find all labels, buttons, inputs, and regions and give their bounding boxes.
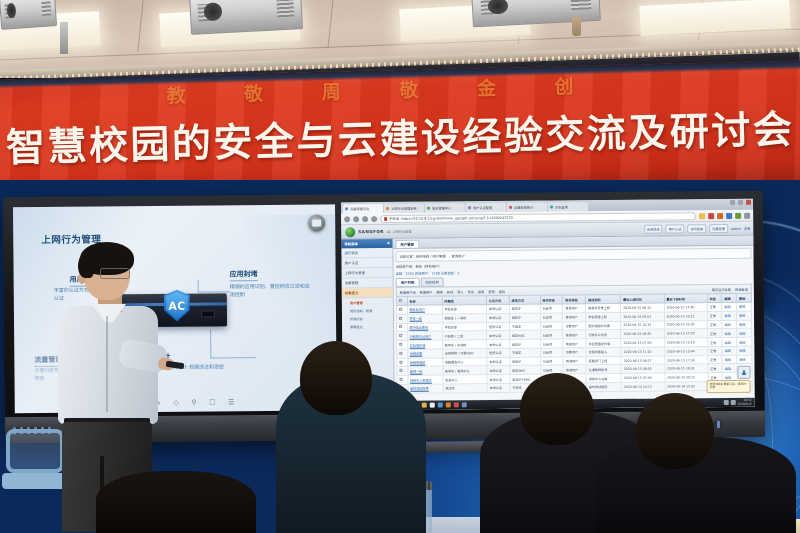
toolbar-delete[interactable]: 删除 (436, 289, 442, 294)
window-controls[interactable] (730, 200, 751, 205)
cell-value: 正常 (707, 338, 722, 347)
cell-value: 图书馆临时访客 (586, 321, 621, 330)
leader-line (210, 330, 211, 359)
toolbar-add-group[interactable]: 新增用户组 (400, 289, 416, 294)
query-link[interactable]: 查询用户 (452, 253, 465, 258)
projector-mount (572, 16, 581, 36)
leader-line (198, 280, 199, 293)
cell-value: 已启用 (540, 339, 563, 348)
cell-value: 绑定IP (509, 304, 540, 313)
col-delete[interactable]: 删除 (736, 293, 751, 302)
cell-value: 本地认证 (486, 313, 509, 322)
favicon-icon (468, 206, 471, 209)
browser-tab[interactable]: 日志查询 (548, 202, 588, 211)
extension-icon[interactable] (717, 213, 723, 219)
toolbar-import[interactable]: 导入 (457, 289, 463, 294)
sidebar-subitem-label: 组织结构、权限 (350, 309, 372, 313)
cell-value: 普通用户 (563, 330, 586, 339)
cell-value: 教学区 / 教师办公 (442, 366, 486, 375)
toolbar-move[interactable]: 移动 (447, 289, 453, 294)
cell-value: 绑定IP (509, 313, 540, 322)
cell-value: 短信认证 (487, 348, 510, 357)
chat-icon[interactable] (454, 402, 459, 407)
cell-value: 本地认证 (487, 383, 510, 392)
cell-value: 短信认证 (487, 322, 510, 331)
cell-value: 学校总部 (442, 322, 486, 331)
col-type[interactable]: 账号类型 (563, 295, 586, 304)
cell-value: 2020-06-15 08:27 (621, 356, 664, 365)
close-icon[interactable] (746, 200, 751, 205)
ac-badge-text: AC (168, 299, 185, 312)
favicon-icon (550, 206, 553, 209)
cell-value: 信息中心 (443, 375, 487, 384)
menu-icon[interactable] (744, 212, 750, 218)
cell-value: 2020-06-15 07:40 (621, 373, 664, 382)
cell-value: 测试组 (443, 384, 487, 393)
cell-value: 2020-06-15 15:44 (664, 347, 707, 356)
cell-value: 2020-06-15 20:15 (665, 373, 708, 382)
cell-value: 不绑定 (509, 322, 540, 331)
cell-value: 行政楼 / 二层 (442, 331, 486, 340)
user-icon[interactable]: ♟ (737, 366, 750, 379)
ceiling-projector-1 (0, 0, 57, 30)
cell-action[interactable]: 编辑 (722, 364, 737, 373)
browser-tab-label: 上网行为管理系统 (391, 206, 417, 211)
cell-value: 正常 (708, 355, 723, 364)
checkbox-icon[interactable] (399, 369, 402, 372)
cell-value: 实验室固定终端 (586, 339, 621, 348)
quick-search-label[interactable]: 快速查询 (735, 286, 748, 291)
sidebar-item-traffic[interactable]: 流量管理 (342, 278, 393, 288)
cell-value: 2020-06-14 15:02 (665, 382, 708, 391)
browser-tab[interactable]: 安全管理中心 (425, 203, 465, 212)
browser-tab-label: 流量监控统计 (514, 205, 533, 210)
collapse-icon[interactable]: ◀ (387, 241, 390, 246)
row-checkbox[interactable] (397, 349, 408, 358)
sidebar-header: 导航菜单 ◀ (341, 239, 392, 248)
back-icon[interactable] (344, 216, 350, 222)
favicon-icon (427, 207, 430, 210)
sidebar-item-label: 对象定义 (345, 291, 359, 295)
presenter-shirt-placket (106, 316, 108, 412)
sidebar-subitem-policy[interactable]: 策略定义 (342, 322, 393, 330)
sidebar-subitem-label: 用户管理 (350, 301, 363, 305)
browser-tab[interactable]: 设备管理平台 (343, 204, 383, 213)
row-checkbox[interactable] (397, 358, 408, 367)
cell-action[interactable]: 删除 (737, 311, 752, 320)
col-edit[interactable]: 编辑 (722, 293, 737, 302)
toolbar-enable[interactable]: 启用 (478, 289, 484, 294)
app-icon[interactable] (462, 402, 467, 407)
cell-value: 普通用户 (563, 339, 586, 348)
browser-tab[interactable]: 用户认证配置 (466, 203, 506, 212)
cell-value: 教学区 / 实验楼 (442, 340, 486, 349)
clock-date[interactable]: 2020/6/15 (737, 401, 751, 405)
security-label: 不安全 (389, 216, 399, 221)
home-icon[interactable] (371, 216, 377, 222)
cell-value: 访客用户 (563, 321, 586, 330)
sidebar-subitem-label: 策略定义 (350, 325, 363, 329)
cell-action[interactable]: 编辑 (722, 329, 737, 338)
cell-value: 无线网络 / 访客SSID (442, 349, 486, 358)
cell-value: 本地认证 (487, 331, 510, 340)
browser-tab[interactable]: 流量监控统计 (507, 203, 547, 212)
checkbox-icon[interactable] (400, 378, 403, 381)
cell-value: 正常 (707, 320, 722, 329)
cell-action[interactable]: 删除 (737, 320, 752, 329)
checkbox-icon[interactable] (399, 308, 402, 311)
sidebar-item-label: 运行状态 (344, 251, 358, 255)
cell-value: 已启用 (540, 304, 563, 313)
col-state[interactable]: 状态 (707, 294, 722, 303)
screen-camera-module (308, 215, 325, 232)
cell-value: 已启用 (540, 348, 563, 357)
sidebar-header-label: 导航菜单 (344, 241, 358, 246)
cell-name[interactable]: 图书馆访客组 (407, 323, 442, 332)
extension-icon[interactable] (708, 213, 714, 219)
cell-name[interactable]: 无线访客 (407, 349, 442, 358)
cell-value: 无线访客接入 (586, 347, 621, 356)
header-button-auth[interactable]: 用户认证 (666, 224, 685, 233)
select-all-header[interactable] (396, 296, 407, 305)
sidebar-item-label: 用户认证 (345, 261, 359, 265)
cell-value: 本地认证 (487, 375, 510, 384)
row-checkbox[interactable] (396, 305, 407, 314)
favicon-icon (386, 207, 389, 210)
cell-action[interactable]: 删除 (737, 355, 752, 364)
browser-tab-label: 安全管理中心 (432, 205, 451, 210)
notification-popup[interactable]: 检测到新的更新可用，请及时安装 (707, 380, 751, 394)
leader-line (210, 357, 256, 358)
col-name[interactable]: 名称 (407, 296, 442, 305)
col-status[interactable]: 账号状态 (540, 295, 563, 304)
cell-value: 网络中心运维 (586, 374, 621, 383)
breadcrumb: 当前位置：组织结构 / 用户管理 (399, 253, 445, 258)
cell-value: 不绑定 (510, 348, 541, 357)
url-text: https://10.10.8.1/cgi-bin/home_jsgraph_e… (401, 215, 512, 220)
cell-value: 已启用 (540, 357, 563, 366)
cell-value: 本地认证 (487, 366, 510, 375)
toolbar-export[interactable]: 导出 (468, 289, 474, 294)
sidebar-item-label: 流量管理 (345, 281, 359, 285)
browser-extensions[interactable] (699, 212, 750, 218)
col-last-offline[interactable]: 最近下线时间 (664, 294, 707, 303)
header-button-status[interactable]: 系统状态 (644, 225, 663, 234)
cell-value: 后勤部门上网 (586, 356, 621, 365)
cell-value: 已启用 (540, 322, 563, 331)
content-tab-bar[interactable]: 用户管理 (393, 236, 753, 249)
col-auth[interactable]: 认证方式 (486, 295, 509, 304)
sidebar-item-behavior[interactable]: 上网行为管理 (342, 268, 393, 278)
checkbox-icon[interactable] (399, 299, 402, 302)
cell-value: 本地认证 (487, 340, 510, 349)
device-port (201, 310, 215, 317)
cell-value: 绑定IP (510, 357, 541, 366)
maximize-icon[interactable] (738, 200, 743, 205)
slide-label-app-block: 应用封堵 (230, 269, 258, 279)
header-actions[interactable]: 系统状态 用户认证 访问控制 流量管理 admin 注销 (644, 224, 750, 234)
logout-link[interactable]: 注销 (744, 226, 750, 231)
cell-value: 任课教师账号 (586, 365, 621, 374)
cell-value: 普通用户 (563, 356, 586, 365)
notification-text: 检测到新的更新可用，请及时安装 (710, 382, 746, 390)
slide-desc-app-block: 精细的应用识别、管控网页过滤和应用控制 (230, 283, 312, 300)
media-icon[interactable] (446, 402, 451, 407)
cell-value: 2020-06-15 07:58 (621, 338, 664, 347)
sidebar-item-auth[interactable]: 用户认证 (341, 258, 392, 268)
cell-value: 2020-06-15 08:12 (621, 303, 664, 312)
browser-tab-label: 日志查询 (555, 204, 568, 209)
checkbox-icon[interactable] (399, 317, 402, 320)
sidebar-subitem-label: 终端识别 (350, 317, 363, 321)
user-glyph: ♟ (741, 368, 747, 376)
cell-value: 2020-06-15 17:55 (664, 329, 707, 338)
subtab-user-list[interactable]: 用户列表 (396, 278, 420, 287)
cell-value: 2020-06-15 16:05 (664, 320, 707, 329)
ceiling-projector-2 (189, 0, 303, 35)
cell-name[interactable]: 临时测试账号 (408, 384, 443, 393)
cell-value: 正常 (708, 364, 723, 373)
cell-action[interactable]: 删除 (737, 329, 752, 338)
cell-value: 正常 (708, 346, 723, 355)
checkbox-icon[interactable] (399, 360, 402, 363)
cell-action[interactable]: 编辑 (722, 302, 737, 311)
cell-action[interactable]: 删除 (737, 337, 752, 346)
cell-value: 2020-06-15 17:40 (664, 303, 707, 312)
favicon-icon (509, 206, 512, 209)
cell-action[interactable]: 编辑 (722, 355, 737, 364)
ceiling-projector-3 (471, 0, 601, 27)
favicon-icon (345, 207, 348, 210)
cell-value: 宿舍区 / 一号楼 (442, 313, 486, 322)
bookmark-icon[interactable] (699, 213, 705, 219)
cell-value: 绑定MAC (509, 330, 540, 339)
slide-toolbar[interactable]: ✎ ◇ ⚲ ☐ ☰ (149, 396, 241, 409)
cell-value: 普通用户 (563, 313, 586, 322)
search-icon[interactable]: ⚲ (191, 399, 196, 407)
row-checkbox[interactable] (396, 314, 407, 323)
cell-action[interactable]: 编辑 (722, 346, 737, 355)
cell-value: 普通用户 (563, 304, 586, 313)
row-checkbox[interactable] (397, 332, 408, 341)
cell-value: 本地认证 (486, 304, 509, 313)
folder-icon[interactable] (422, 403, 427, 408)
cell-action[interactable]: 删除 (737, 302, 752, 311)
cell-value: 2020-06-15 10:31 (621, 321, 664, 330)
sangfor-logo-icon (345, 227, 355, 237)
audience-member-4 (96, 471, 256, 533)
cell-value: 正常 (707, 303, 722, 312)
user-label[interactable]: admin (731, 226, 741, 230)
conference-room-scene: 教 敬 周 敬 金 创 智慧校园的安全与云建设经验交流及研讨会 上网行为管理 用… (0, 0, 800, 533)
taskbar-tray[interactable]: 16:52 2020/6/15 (723, 399, 751, 405)
cell-value: 绑定MAC (510, 366, 541, 375)
row-checkbox[interactable] (397, 323, 408, 332)
cell-name[interactable]: 实验室终端 (407, 340, 442, 349)
toolbar-add-user[interactable]: 新增用户 (420, 289, 433, 294)
frame-icon[interactable]: ☐ (209, 398, 215, 406)
cell-name[interactable]: 行政楼办公用户 (407, 331, 442, 340)
cell-value: 学校总部 (442, 305, 486, 314)
header-button-traffic[interactable]: 流量管理 (709, 224, 728, 233)
more-icon[interactable]: ☰ (228, 398, 234, 406)
cell-value: 2020-06-15 19:10 (664, 338, 707, 347)
tab-user-management[interactable]: 用户管理 (395, 240, 419, 248)
checkbox-icon[interactable] (399, 325, 402, 328)
extension-icon[interactable] (726, 212, 732, 218)
cell-name[interactable]: 后勤管理组 (407, 358, 442, 367)
cell-value: 2020-06-15 09:03 (621, 312, 664, 321)
cell-value: 2020-06-15 08:45 (621, 329, 664, 338)
network-icon[interactable] (723, 400, 728, 405)
volume-icon[interactable] (730, 400, 735, 405)
breadcrumb-filter-bar: 当前位置：组织结构 / 用户管理 查询用户 (395, 248, 751, 262)
cell-name[interactable]: 网络中心管理员 (408, 375, 443, 384)
cell-value: 学生宿舍上网 (586, 312, 621, 321)
insecure-icon (384, 216, 387, 220)
cell-value: 已启用 (540, 330, 563, 339)
browser-tab[interactable]: 上网行为管理系统 (384, 204, 424, 213)
col-desc[interactable]: 描述说明 (586, 294, 621, 303)
checkbox-icon[interactable] (399, 343, 402, 346)
projector-mount (60, 22, 68, 54)
cell-value: 正常 (707, 329, 722, 338)
page-size-label[interactable]: 每页显示条数 (712, 286, 731, 291)
store-icon[interactable] (430, 403, 435, 408)
browser-tab-label: 用户认证配置 (473, 205, 492, 210)
col-bind[interactable]: 绑定方式 (509, 295, 540, 304)
cell-action[interactable]: 编辑 (722, 320, 737, 329)
minimize-icon[interactable] (730, 200, 735, 205)
cell-action[interactable]: 编辑 (722, 338, 737, 347)
cell-value: 2020-06-15 11:20 (621, 347, 664, 356)
col-last-online[interactable]: 最近上线时间 (621, 294, 664, 303)
cell-name[interactable]: 教师一组 (407, 366, 442, 375)
cell-value: 2020-06-15 18:22 (664, 311, 707, 320)
col-group[interactable]: 所属组 (442, 296, 486, 305)
sidebar-item-status[interactable]: 运行状态 (341, 248, 392, 258)
eraser-icon[interactable]: ◇ (173, 399, 178, 407)
row-checkbox[interactable] (397, 367, 408, 376)
cell-value: 本地认证 (487, 357, 510, 366)
cell-value: 已启用 (540, 313, 563, 322)
toolbar-disable[interactable]: 禁用 (488, 289, 494, 294)
presenter-hair (78, 252, 94, 278)
cell-value: 教务处日常上网 (586, 303, 621, 312)
audience-head (520, 373, 594, 445)
cell-value: 临时调试使用 (586, 382, 621, 391)
cell-value: 正常 (707, 311, 722, 320)
audience-head (300, 341, 372, 415)
subtab-org-structure[interactable]: 组织结构 (420, 277, 444, 286)
counts-text: 全部：2352 在线用户：1799 已用授权：2 (396, 271, 460, 276)
brand-subtitle: AC 上网行为管理 (387, 229, 412, 234)
browser-tab-label: 设备管理平台 (350, 206, 369, 211)
cell-value: 访客用户 (563, 348, 586, 357)
header-button-access[interactable]: 访问控制 (687, 224, 706, 233)
cell-value: 2020-06-15 18:01 (664, 364, 707, 373)
cell-value: 普通用户 (563, 365, 586, 374)
cell-value: 绑定IP (509, 339, 540, 348)
group-info-text: 当前用户组：根组（所有用户） (396, 264, 442, 268)
cell-name[interactable]: 教务处用户 (407, 305, 442, 314)
cell-action[interactable]: 编辑 (722, 311, 737, 320)
brand-name: SANGFOR (358, 229, 384, 234)
cell-value: 行政办公专用 (586, 330, 621, 339)
row-checkbox[interactable] (397, 340, 408, 349)
audience-head (636, 393, 714, 469)
checkbox-icon[interactable] (399, 334, 402, 337)
reload-icon[interactable] (362, 216, 368, 222)
cell-value: 后勤服务中心 (442, 357, 486, 366)
cell-value: 2020-06-15 17:30 (664, 355, 707, 364)
cell-value: 2020-06-15 08:05 (621, 365, 664, 374)
cell-value: 2020-06-14 14:12 (621, 382, 664, 391)
cell-name[interactable]: 学生一区 (407, 314, 442, 323)
toolbar-find[interactable]: 查找 (499, 288, 505, 293)
sidebar-item-label: 上网行为管理 (345, 271, 365, 275)
checkbox-icon[interactable] (399, 352, 402, 355)
sidebar-item-objects[interactable]: 对象定义 (342, 288, 393, 298)
mail-icon[interactable] (438, 402, 443, 407)
presenter-glasses (100, 268, 130, 279)
cell-action[interactable]: 删除 (737, 346, 752, 355)
forward-icon[interactable] (353, 216, 359, 222)
extension-icon[interactable] (735, 212, 741, 218)
url-input[interactable]: 不安全 https://10.10.8.1/cgi-bin/home_jsgra… (380, 212, 696, 223)
